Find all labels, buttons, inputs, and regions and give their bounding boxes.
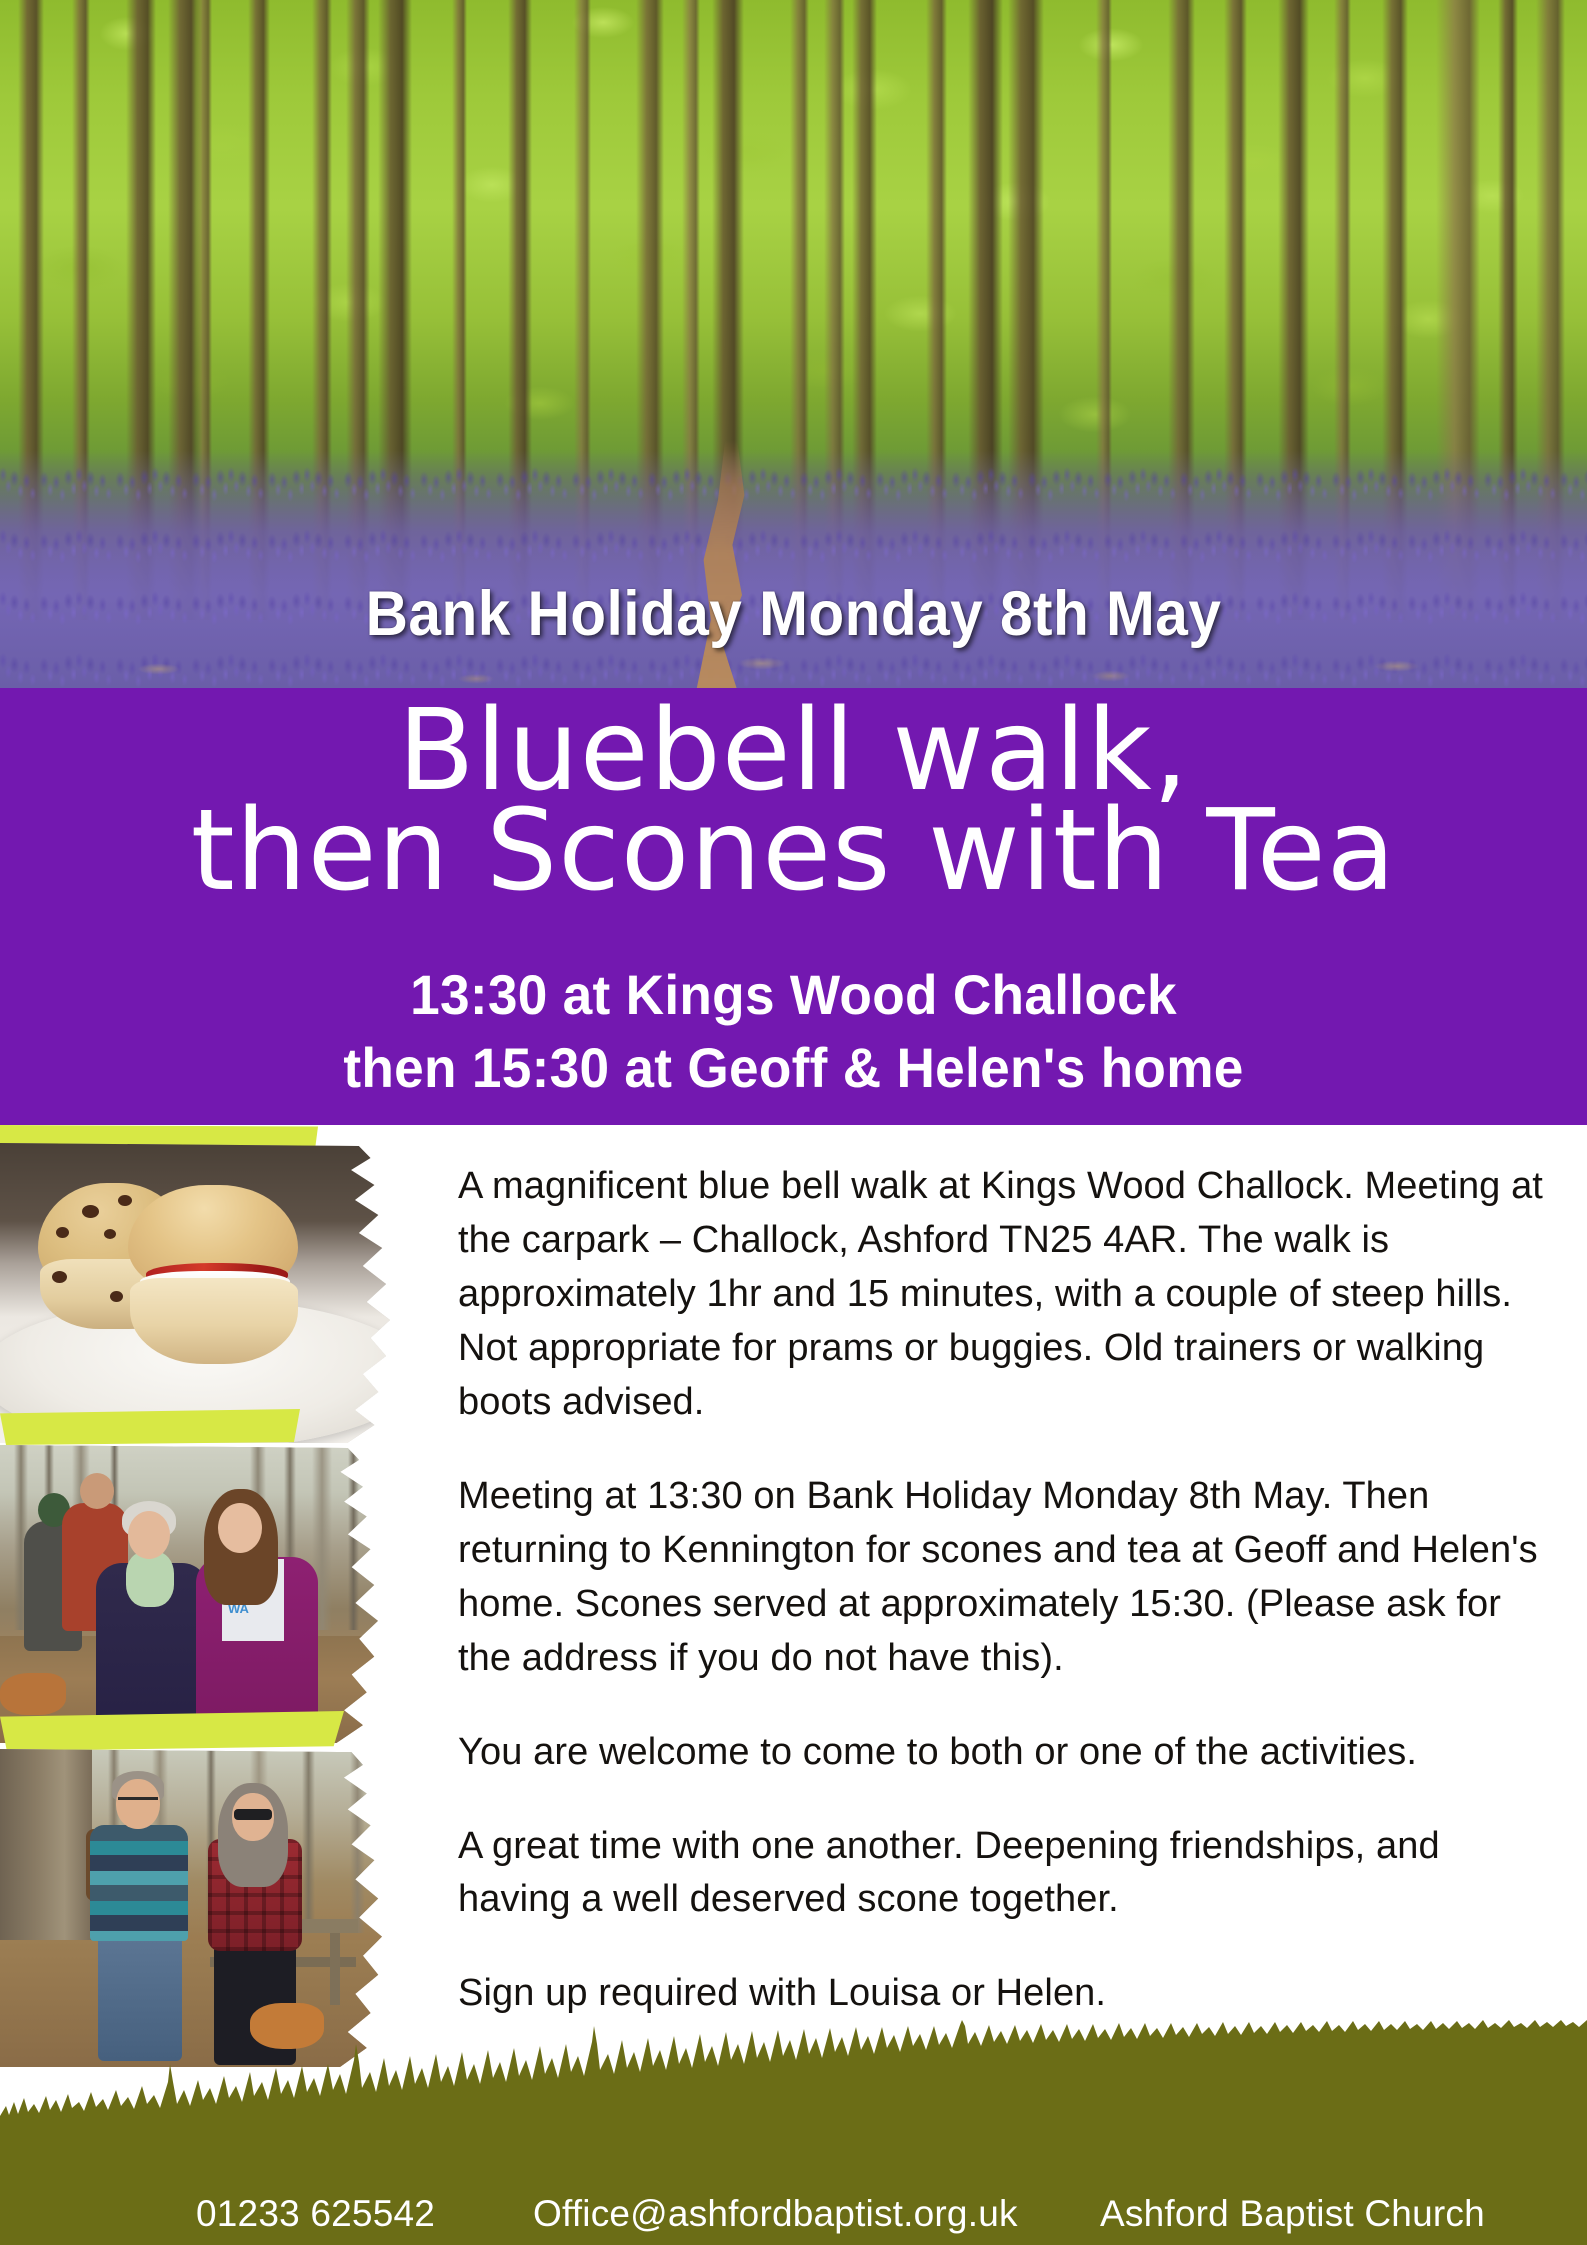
- scones-with-jam-and-cream-photo: [0, 1143, 390, 1443]
- two-women-on-woodland-walk-photo: DAWA: [0, 1445, 378, 1743]
- footer-phone-number[interactable]: 01233 625542: [196, 2193, 435, 2235]
- event-time-location-primary: 13:30 at Kings Wood Challock: [40, 962, 1548, 1027]
- paragraph-meeting-and-scones: Meeting at 13:30 on Bank Holiday Monday …: [458, 1470, 1548, 1686]
- contact-footer: 01233 625542 Office@ashfordbaptist.org.u…: [0, 2020, 1587, 2245]
- paragraph-attendance-welcome: You are welcome to come to both or one o…: [458, 1726, 1548, 1780]
- poster-canvas: Bank Holiday Monday 8th May Bluebell wal…: [0, 0, 1587, 2245]
- purple-title-banner: Bluebell walk, then Scones with Tea 13:3…: [0, 688, 1587, 1125]
- lime-accent-strip-between-two-three: [0, 1711, 344, 1751]
- man-striped-jumper: [90, 1825, 188, 1941]
- dog: [0, 1673, 66, 1715]
- paragraph-fellowship: A great time with one another. Deepening…: [458, 1820, 1548, 1928]
- paragraph-signup: Sign up required with Louisa or Helen.: [458, 1967, 1548, 2021]
- lime-accent-strip-between-one-two: [0, 1409, 300, 1445]
- date-banner-text: Bank Holiday Monday 8th May: [56, 578, 1532, 650]
- face: [128, 1511, 170, 1559]
- event-description-text: A magnificent blue bell walk at Kings Wo…: [458, 1160, 1548, 2021]
- event-time-location-secondary: then 15:30 at Geoff & Helen's home: [40, 1035, 1548, 1100]
- face: [218, 1503, 262, 1553]
- footer-email-address[interactable]: Office@ashfordbaptist.org.uk: [533, 2193, 1018, 2235]
- footer-organisation-name: Ashford Baptist Church: [1100, 2193, 1485, 2235]
- woman-sunglasses: [234, 1809, 272, 1820]
- raisin: [118, 1195, 132, 1206]
- green-scarf: [126, 1551, 174, 1607]
- poster-title: Bluebell walk, then Scones with Tea: [0, 694, 1587, 908]
- bluebell-woodland-hero-image: Bank Holiday Monday 8th May: [0, 0, 1587, 690]
- raisin: [104, 1229, 116, 1239]
- raisin: [52, 1271, 67, 1283]
- raisin: [110, 1291, 123, 1302]
- grass-silhouette-icon: [0, 2020, 1587, 2140]
- photo-gallery-column: DAWA: [0, 1125, 400, 2115]
- paragraph-walk-details: A magnificent blue bell walk at Kings Wo…: [458, 1160, 1548, 1430]
- poster-title-line-2: then Scones with Tea: [0, 794, 1587, 908]
- raisin: [82, 1205, 99, 1218]
- raisin: [56, 1227, 69, 1238]
- man-glasses: [118, 1797, 158, 1806]
